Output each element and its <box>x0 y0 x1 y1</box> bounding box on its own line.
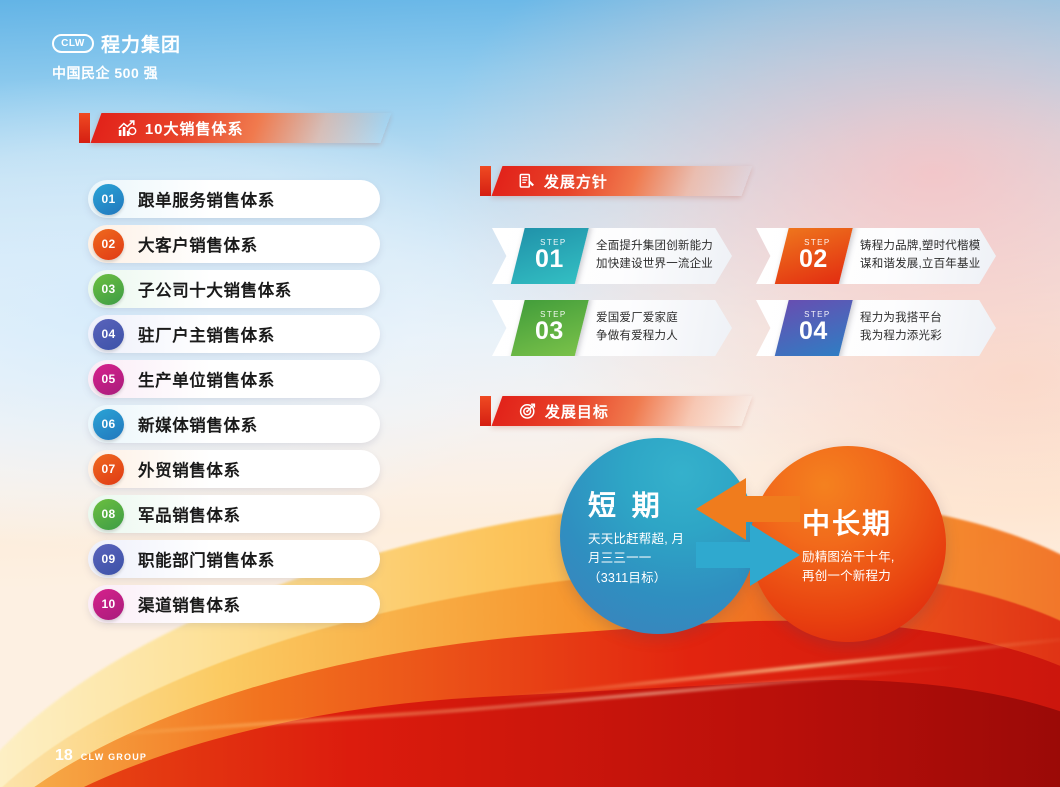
policy-step-number: 01 <box>535 246 564 272</box>
step-row: STEP03爱国爱厂爱家庭争做有爱程力人STEP04程力为我搭平台我为程力添光彩 <box>492 300 1012 356</box>
slide-canvas: CLW 程力集团 中国民企 500 强 10大销售体系 01跟单服务销售体系02… <box>0 0 1060 787</box>
sales-system-item-09[interactable]: 09职能部门销售体系 <box>88 540 380 578</box>
sales-system-label: 驻厂户主销售体系 <box>138 322 275 346</box>
policy-step-line1: 全面提升集团创新能力 <box>596 238 713 256</box>
policy-step-badge: STEP01 <box>510 222 590 288</box>
development-policy-steps: STEP01全面提升集团创新能力加快建设世界一流企业STEP02铸程力品牌,塑时… <box>492 228 1012 372</box>
sales-system-label: 渠道销售体系 <box>138 592 241 616</box>
sales-system-number: 02 <box>93 229 124 260</box>
goal-long-line2: 再创一个新程力 <box>802 567 946 586</box>
policy-step-line2: 谋和谐发展,立百年基业 <box>860 256 980 274</box>
sales-system-list: 01跟单服务销售体系02大客户销售体系03子公司十大销售体系04驻厂户主销售体系… <box>88 180 380 630</box>
section-banner-sales-label: 10大销售体系 <box>145 118 244 139</box>
goal-long-line1: 励精图治干十年, <box>802 548 946 567</box>
section-banner-goal-label: 发展目标 <box>545 401 609 422</box>
sales-system-item-02[interactable]: 02大客户销售体系 <box>88 225 380 263</box>
policy-step-line2: 加快建设世界一流企业 <box>596 256 713 274</box>
sales-system-item-08[interactable]: 08军品销售体系 <box>88 495 380 533</box>
banner-accent-tick <box>480 396 491 426</box>
policy-step-badge: STEP02 <box>774 222 854 288</box>
policy-step-text: 程力为我搭平台我为程力添光彩 <box>860 310 942 346</box>
policy-step-03[interactable]: STEP03爱国爱厂爱家庭争做有爱程力人 <box>492 300 732 356</box>
sales-system-number: 04 <box>93 319 124 350</box>
sales-system-label: 跟单服务销售体系 <box>138 187 275 211</box>
sales-system-label: 职能部门销售体系 <box>138 547 275 571</box>
page-number: 18 <box>55 747 73 765</box>
banner-accent-tick <box>480 166 491 196</box>
sales-system-label: 大客户销售体系 <box>138 232 258 256</box>
policy-step-number: 04 <box>799 318 828 344</box>
sales-system-label: 新媒体销售体系 <box>138 412 258 436</box>
step-row: STEP01全面提升集团创新能力加快建设世界一流企业STEP02铸程力品牌,塑时… <box>492 228 1012 284</box>
policy-step-badge: STEP03 <box>510 294 590 360</box>
sales-system-number: 10 <box>93 589 124 620</box>
development-goal-diagram: 短 期 天天比赶帮超, 月 月三三一一 （3311目标） 中长期 励精图治干十年… <box>560 438 960 638</box>
policy-step-badge: STEP04 <box>774 294 854 360</box>
sales-system-item-05[interactable]: 05生产单位销售体系 <box>88 360 380 398</box>
sales-system-number: 08 <box>93 499 124 530</box>
policy-step-text: 全面提升集团创新能力加快建设世界一流企业 <box>596 238 713 274</box>
company-subtitle: 中国民企 500 强 <box>52 63 181 83</box>
growth-chart-icon <box>118 120 137 137</box>
sales-system-item-03[interactable]: 03子公司十大销售体系 <box>88 270 380 308</box>
policy-step-line1: 铸程力品牌,塑时代楷模 <box>860 238 980 256</box>
sales-system-label: 外贸销售体系 <box>138 457 241 481</box>
policy-step-text: 铸程力品牌,塑时代楷模谋和谐发展,立百年基业 <box>860 238 980 274</box>
policy-step-01[interactable]: STEP01全面提升集团创新能力加快建设世界一流企业 <box>492 228 732 284</box>
target-icon <box>519 402 537 420</box>
page-footer: 18 CLW GROUP <box>55 747 147 765</box>
company-name: 程力集团 <box>101 30 181 57</box>
sales-system-item-01[interactable]: 01跟单服务销售体系 <box>88 180 380 218</box>
sales-system-number: 09 <box>93 544 124 575</box>
goal-long-title: 中长期 <box>802 502 946 542</box>
section-banner-policy-label: 发展方针 <box>544 171 608 192</box>
sales-system-number: 01 <box>93 184 124 215</box>
sales-system-item-06[interactable]: 06新媒体销售体系 <box>88 405 380 443</box>
section-banner-policy: 发展方针 <box>492 166 753 196</box>
sales-system-label: 子公司十大销售体系 <box>138 277 292 301</box>
sales-system-item-04[interactable]: 04驻厂户主销售体系 <box>88 315 380 353</box>
sales-system-number: 05 <box>93 364 124 395</box>
policy-step-text: 爱国爱厂爱家庭争做有爱程力人 <box>596 310 678 346</box>
policy-step-line2: 争做有爱程力人 <box>596 328 678 346</box>
book-icon <box>519 173 536 190</box>
sales-system-item-07[interactable]: 07外贸销售体系 <box>88 450 380 488</box>
goal-long-description: 励精图治干十年, 再创一个新程力 <box>802 548 946 587</box>
policy-step-line2: 我为程力添光彩 <box>860 328 942 346</box>
section-banner-sales: 10大销售体系 <box>91 113 392 143</box>
clw-monogram-icon: CLW <box>52 34 94 53</box>
policy-step-line1: 程力为我搭平台 <box>860 310 942 328</box>
section-banner-goal: 发展目标 <box>492 396 753 426</box>
company-logo: CLW 程力集团 中国民企 500 强 <box>52 30 181 83</box>
bidirectional-arrow-icon <box>688 472 818 592</box>
sales-system-number: 07 <box>93 454 124 485</box>
sales-system-number: 06 <box>93 409 124 440</box>
sales-system-label: 生产单位销售体系 <box>138 367 275 391</box>
sales-system-item-10[interactable]: 10渠道销售体系 <box>88 585 380 623</box>
footer-brand: CLW GROUP <box>81 752 147 762</box>
policy-step-number: 02 <box>799 246 828 272</box>
policy-step-04[interactable]: STEP04程力为我搭平台我为程力添光彩 <box>756 300 996 356</box>
sales-system-label: 军品销售体系 <box>138 502 241 526</box>
sales-system-number: 03 <box>93 274 124 305</box>
banner-accent-tick <box>79 113 90 143</box>
policy-step-number: 03 <box>535 318 564 344</box>
policy-step-line1: 爱国爱厂爱家庭 <box>596 310 678 328</box>
policy-step-02[interactable]: STEP02铸程力品牌,塑时代楷模谋和谐发展,立百年基业 <box>756 228 996 284</box>
